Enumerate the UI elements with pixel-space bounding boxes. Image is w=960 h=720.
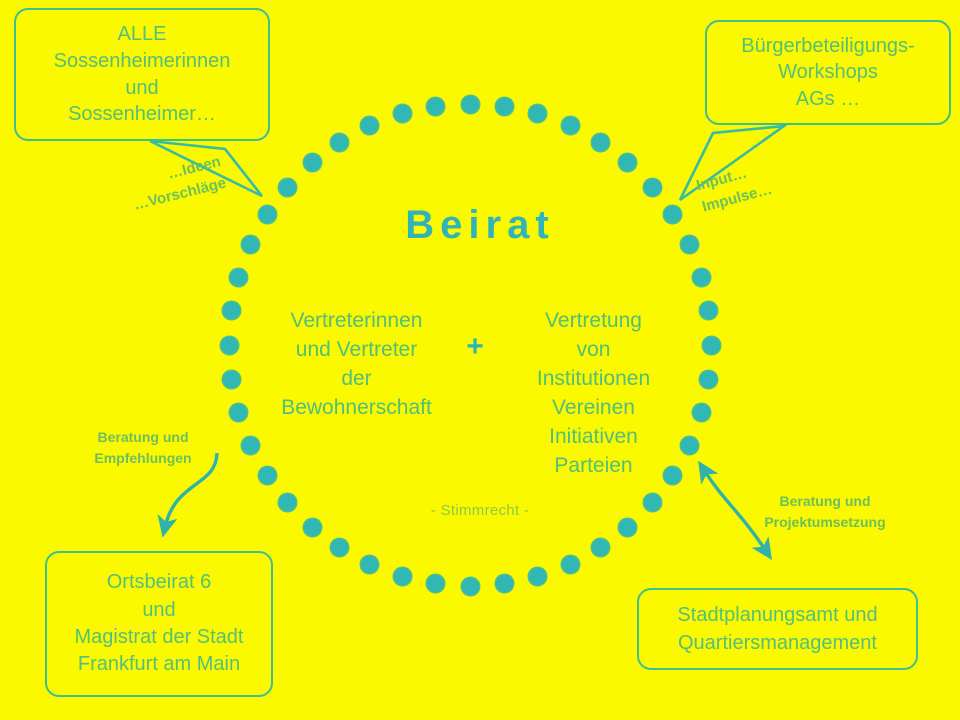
bubble-line: und <box>16 75 268 102</box>
diagram-canvas: Beirat Vertreterinnen und Vertreter der … <box>0 0 960 720</box>
ring-dot <box>427 575 444 592</box>
center-left-line: und Vertreter <box>264 336 449 365</box>
ring-dot <box>394 568 411 585</box>
ring-dot <box>619 154 636 171</box>
ring-dot <box>644 179 661 196</box>
center-membership-columns: Vertreterinnen und Vertreter der Bewohne… <box>240 307 710 481</box>
ring-dot <box>592 539 609 556</box>
bubble-line: AGs … <box>707 86 949 113</box>
ring-dot <box>223 302 240 319</box>
stadtplanungsamt-box: Stadtplanungsamt und Quartiersmanagement <box>637 588 918 670</box>
box-line: Ortsbeirat 6 <box>47 569 271 596</box>
connector-label-beratung-projektumsetzung: Beratung und Projektumsetzung <box>750 491 900 533</box>
ring-dot <box>361 117 378 134</box>
bubble-line: Sossenheimer… <box>16 101 268 128</box>
center-right-line: Vertretung <box>501 307 686 336</box>
ring-dot <box>496 575 513 592</box>
ring-dot <box>394 105 411 122</box>
alle-sossenheimer-bubble: ALLE Sossenheimerinnen und Sossenheimer… <box>14 8 270 141</box>
box-line: Frankfurt am Main <box>47 651 271 678</box>
ring-dot <box>304 154 321 171</box>
connector-label-beratung-empfehlungen: Beratung und Empfehlungen <box>82 427 204 469</box>
center-column-right: Vertretung von Institutionen Vereinen In… <box>501 307 686 481</box>
ring-dot <box>223 371 240 388</box>
ring-dot <box>427 98 444 115</box>
buergerbeteiligung-bubble: Bürgerbeteiligungs- Workshops AGs … <box>705 20 951 125</box>
center-column-left: Vertreterinnen und Vertreter der Bewohne… <box>264 307 449 423</box>
center-left-line: Vertreterinnen <box>264 307 449 336</box>
ring-dot <box>221 337 238 354</box>
connector-label-line: Beratung und <box>750 491 900 512</box>
ring-dot <box>230 269 247 286</box>
center-right-line: Parteien <box>501 452 686 481</box>
bubble-line: Sossenheimerinnen <box>16 48 268 75</box>
ring-dot <box>331 134 348 151</box>
box-line: Stadtplanungsamt und <box>639 601 916 629</box>
connector-label-line: Projektumsetzung <box>750 512 900 533</box>
center-right-line: Initiativen <box>501 423 686 452</box>
center-left-line: Bewohnerschaft <box>264 394 449 423</box>
ring-dot <box>592 134 609 151</box>
bubble-line: Workshops <box>707 59 949 86</box>
ring-dot <box>619 519 636 536</box>
connector-label-line: Beratung und <box>82 427 204 448</box>
ring-dot <box>304 519 321 536</box>
ring-dot <box>562 556 579 573</box>
ring-dot <box>562 117 579 134</box>
ring-dot <box>529 568 546 585</box>
center-right-line: von <box>501 336 686 365</box>
ring-dot <box>361 556 378 573</box>
center-right-line: Institutionen <box>501 365 686 394</box>
center-right-line: Vereinen <box>501 394 686 423</box>
plus-icon: + <box>449 307 501 365</box>
connector-label-line: Empfehlungen <box>82 448 204 469</box>
ortsbeirat-box: Ortsbeirat 6 und Magistrat der Stadt Fra… <box>45 551 273 697</box>
ring-dot <box>496 98 513 115</box>
bubble-line: ALLE <box>16 21 268 48</box>
ring-dot <box>529 105 546 122</box>
ring-dot <box>462 578 479 595</box>
box-line: und <box>47 597 271 624</box>
ring-dot <box>693 269 710 286</box>
center-left-line: der <box>264 365 449 394</box>
ring-dot <box>331 539 348 556</box>
bubble-line: Bürgerbeteiligungs- <box>707 33 949 60</box>
ring-dot <box>462 96 479 113</box>
box-line: Magistrat der Stadt <box>47 624 271 651</box>
ring-dot <box>279 179 296 196</box>
box-line: Quartiersmanagement <box>639 629 916 657</box>
